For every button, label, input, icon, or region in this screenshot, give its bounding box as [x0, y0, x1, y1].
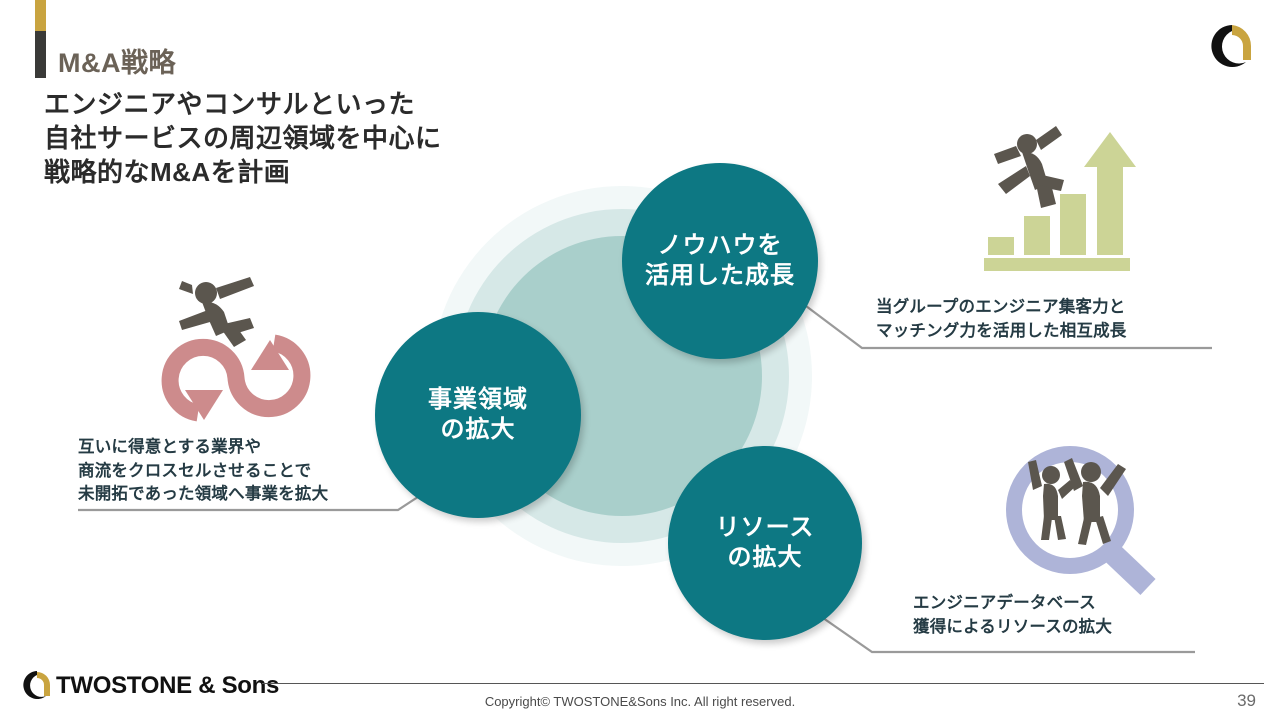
jumping-person-figure: [994, 126, 1064, 208]
bubble-business-domain-label: 事業領域 の拡大: [428, 385, 528, 445]
magnifier-people-icon: [996, 444, 1168, 596]
growth-bar-chart-icon: [978, 122, 1154, 282]
page-number: 39: [1237, 691, 1256, 711]
bubble-resource[interactable]: リソース の拡大: [668, 446, 862, 640]
copyright-text: Copyright© TWOSTONE&Sons Inc. All right …: [0, 694, 1280, 709]
bubble-resource-label: リソース の拡大: [716, 513, 815, 573]
annotation-know-how: 当グループのエンジニア集客力と マッチング力を活用した相互成長: [876, 296, 1127, 343]
footer-divider: [262, 683, 1264, 684]
page-title: M&A戦略: [58, 41, 176, 80]
infinity-loop-shape: [170, 343, 302, 413]
infinity-cycle-icon: [138, 260, 338, 430]
bubble-know-how[interactable]: ノウハウを 活用した成長: [622, 163, 818, 359]
jumping-person-figure: [179, 277, 254, 347]
title-accent-bar-dark: [35, 31, 46, 78]
lead-paragraph: エンジニアやコンサルといった 自社サービスの周辺領域を中心に 戦略的なM&Aを計…: [44, 88, 442, 189]
annotation-business-domain: 互いに得意とする業界や 商流をクロスセルさせることで 未開拓であった領域へ事業を…: [78, 436, 328, 507]
slide-root: M&A戦略 エンジニアやコンサルといった 自社サービスの周辺領域を中心に 戦略的…: [0, 0, 1280, 720]
title-accent-bar-gold: [35, 0, 46, 31]
annotation-resource: エンジニアデータベース 獲得によるリソースの拡大: [913, 592, 1112, 639]
bubble-know-how-label: ノウハウを 活用した成長: [645, 231, 795, 291]
corner-logo-mark-icon: [1206, 20, 1258, 72]
bubble-business-domain[interactable]: 事業領域 の拡大: [375, 312, 581, 518]
